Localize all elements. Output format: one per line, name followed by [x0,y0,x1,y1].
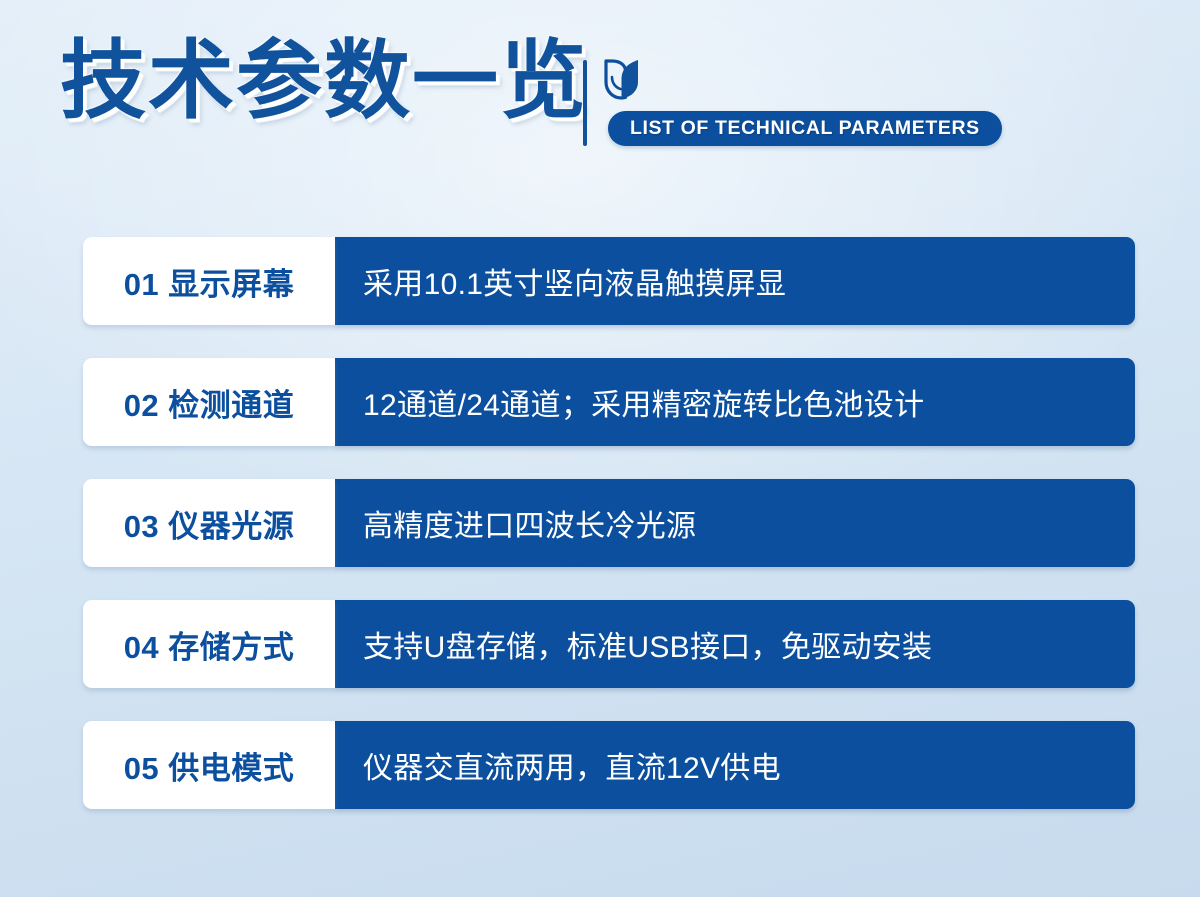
parameter-label: 05 供电模式 [124,743,295,788]
parameter-value-cell: 采用10.1英寸竖向液晶触摸屏显 [335,237,1135,325]
table-row: 01 显示屏幕 采用10.1英寸竖向液晶触摸屏显 [83,237,1135,325]
parameter-label: 03 仪器光源 [124,501,295,546]
parameter-value-cell: 仪器交直流两用，直流12V供电 [335,721,1135,809]
parameter-value: 12通道/24通道；采用精密旋转比色池设计 [363,380,924,424]
parameter-label: 02 检测通道 [124,380,295,425]
parameter-label: 04 存储方式 [124,622,295,667]
page-title: 技术参数一览 [60,38,588,124]
badge-label: LIST OF TECHNICAL PARAMETERS [630,117,980,140]
parameter-value: 采用10.1英寸竖向液晶触摸屏显 [363,259,786,303]
leaf-icon [603,57,641,101]
parameter-value: 支持U盘存储，标准USB接口，免驱动安装 [363,622,932,666]
parameter-label-cell: 02 检测通道 [83,358,335,446]
title-divider [583,60,587,146]
table-row: 02 检测通道 12通道/24通道；采用精密旋转比色池设计 [83,358,1135,446]
badge-technical-parameters: LIST OF TECHNICAL PARAMETERS [608,111,1002,146]
parameter-value: 仪器交直流两用，直流12V供电 [363,743,781,787]
parameter-label-cell: 01 显示屏幕 [83,237,335,325]
parameter-value-cell: 支持U盘存储，标准USB接口，免驱动安装 [335,600,1135,688]
table-row: 04 存储方式 支持U盘存储，标准USB接口，免驱动安装 [83,600,1135,688]
parameter-value-cell: 高精度进口四波长冷光源 [335,479,1135,567]
table-row: 03 仪器光源 高精度进口四波长冷光源 [83,479,1135,567]
page-header: 技术参数一览 LIST OF TECHNICAL PARAMETERS [0,0,1200,200]
parameter-label-cell: 04 存储方式 [83,600,335,688]
parameter-value: 高精度进口四波长冷光源 [363,501,696,545]
parameter-label: 01 显示屏幕 [124,259,295,304]
parameter-label-cell: 03 仪器光源 [83,479,335,567]
parameter-label-cell: 05 供电模式 [83,721,335,809]
table-row: 05 供电模式 仪器交直流两用，直流12V供电 [83,721,1135,809]
parameter-list: 01 显示屏幕 采用10.1英寸竖向液晶触摸屏显 02 检测通道 12通道/24… [83,237,1135,809]
parameter-value-cell: 12通道/24通道；采用精密旋转比色池设计 [335,358,1135,446]
